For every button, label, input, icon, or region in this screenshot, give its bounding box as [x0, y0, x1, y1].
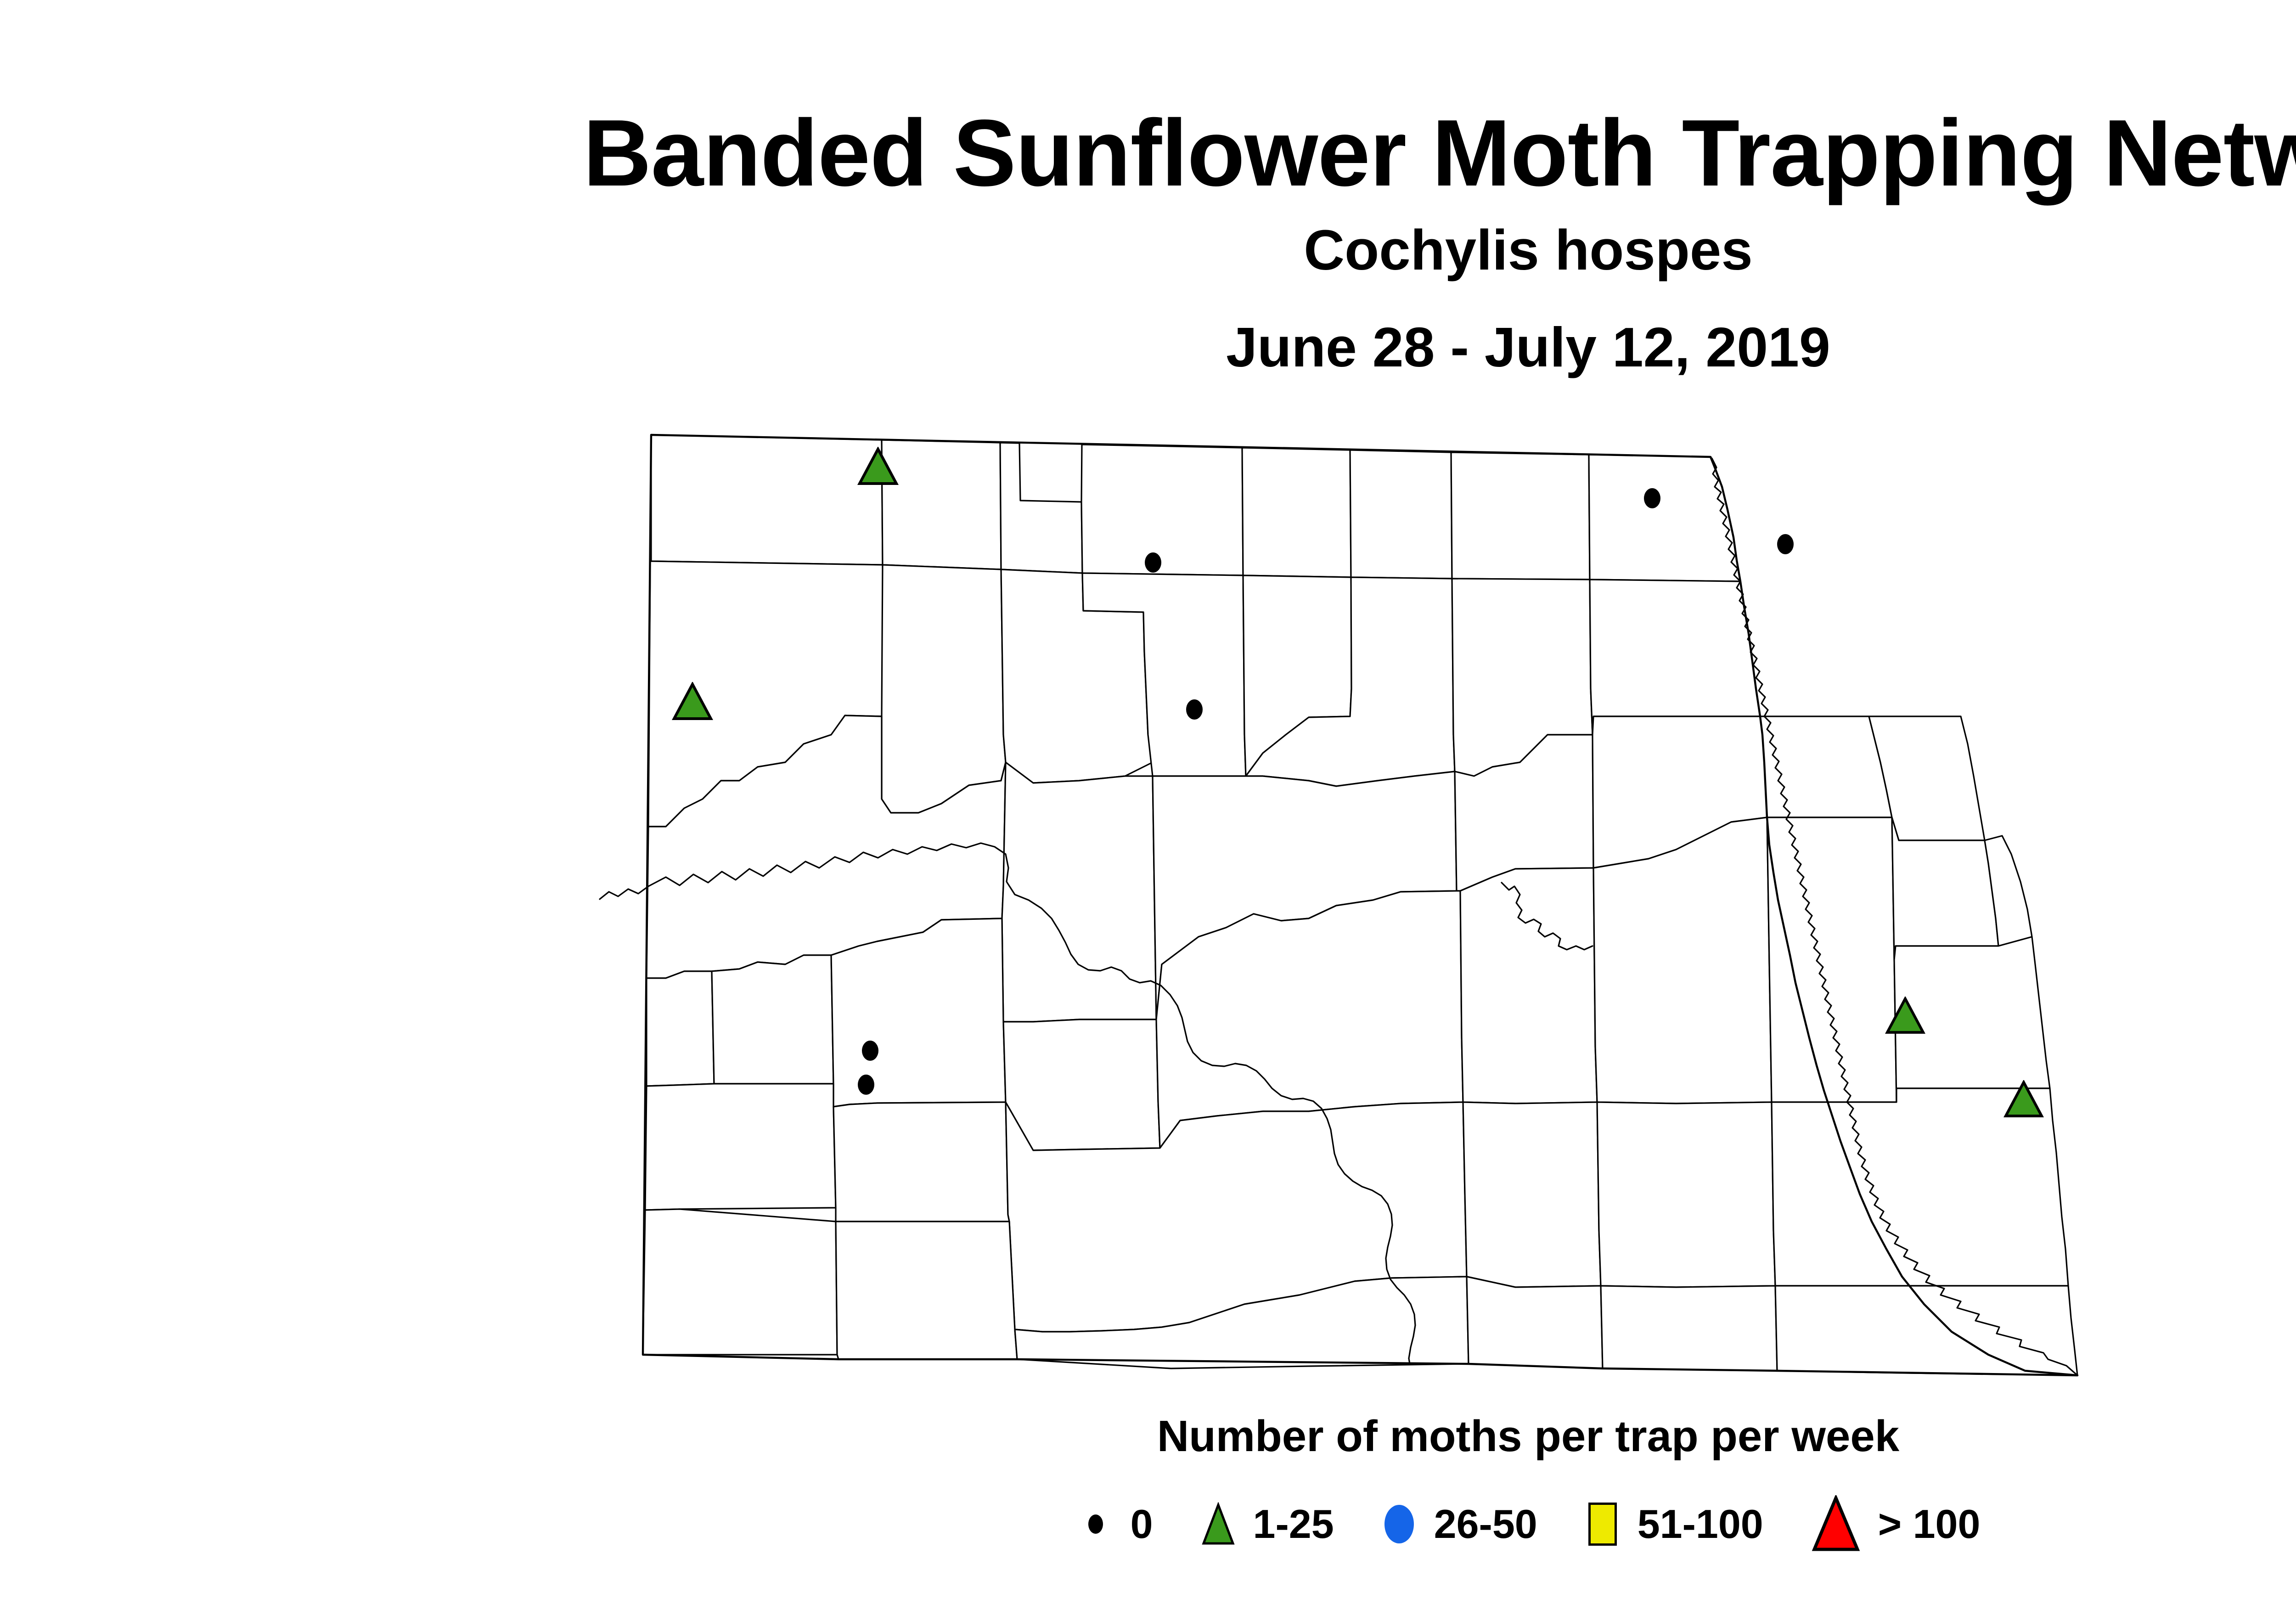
trap-site-marker-dot[interactable] — [1644, 488, 1660, 508]
triangle-small-icon — [1199, 1499, 1238, 1549]
triangle-icon — [2003, 1080, 2044, 1119]
triangle-large-icon — [1809, 1494, 1863, 1554]
circle-icon — [1380, 1499, 1418, 1549]
legend-items: 0 1-25 26-50 51-100 — [0, 1494, 2296, 1554]
legend-label: 51-100 — [1638, 1504, 1763, 1544]
james-river — [1409, 1358, 1410, 1364]
date-range-label: June 28 - July 12, 2019 — [0, 319, 2296, 375]
species-subtitle: Cochylis hospes — [0, 222, 2296, 279]
legend-title: Number of moths per trap per week — [0, 1414, 2296, 1458]
legend-item-zero[interactable]: 0 — [1076, 1499, 1153, 1549]
title-block: Banded Sunflower Moth Trapping Network C… — [0, 0, 2296, 375]
legend-label: > 100 — [1878, 1504, 1981, 1544]
square-icon — [1583, 1499, 1622, 1549]
legend-item-low[interactable]: 1-25 — [1199, 1499, 1334, 1549]
county-boundaries — [643, 435, 2077, 1375]
trap-site-marker-triangle[interactable] — [2003, 1080, 2044, 1119]
legend-item-very-high[interactable]: > 100 — [1809, 1494, 1981, 1554]
triangle-icon — [672, 682, 713, 721]
legend-item-high[interactable]: 51-100 — [1583, 1499, 1763, 1549]
map-figure: Banded Sunflower Moth Trapping Network C… — [0, 0, 2296, 1610]
dot-icon — [1076, 1499, 1115, 1549]
county-map-svg — [528, 413, 2273, 1424]
triangle-icon — [857, 447, 899, 486]
trap-site-marker-triangle[interactable] — [672, 682, 713, 721]
legend-label: 26-50 — [1434, 1504, 1537, 1544]
trap-site-marker-dot[interactable] — [1777, 534, 1794, 554]
north-dakota-map — [528, 413, 2273, 1424]
legend-label: 1-25 — [1253, 1504, 1334, 1544]
triangle-icon — [1885, 996, 1925, 1035]
page-title: Banded Sunflower Moth Trapping Network — [0, 106, 2296, 200]
legend-label: 0 — [1131, 1504, 1153, 1544]
legend: Number of moths per trap per week 0 1-25… — [0, 1414, 2296, 1554]
trap-site-marker-dot[interactable] — [1186, 699, 1203, 720]
trap-site-marker-dot[interactable] — [862, 1041, 878, 1061]
trap-site-marker-dot[interactable] — [858, 1075, 874, 1095]
trap-site-marker-triangle[interactable] — [1885, 996, 1925, 1035]
trap-site-marker-dot[interactable] — [1145, 552, 1161, 573]
trap-site-marker-triangle[interactable] — [857, 447, 899, 486]
legend-item-medium[interactable]: 26-50 — [1380, 1499, 1537, 1549]
